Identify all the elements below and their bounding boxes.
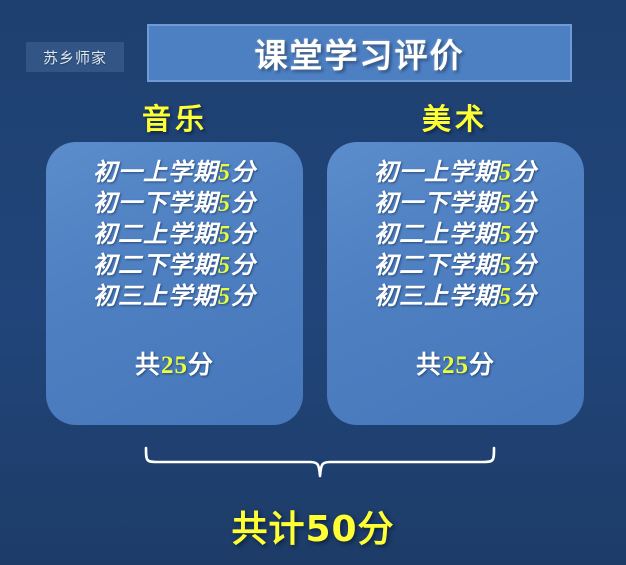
- score-row-label: 初三上学期: [374, 284, 499, 310]
- score-row: 初二上学期5分: [46, 220, 303, 251]
- score-row-label: 初二下学期: [93, 253, 218, 279]
- score-row-label: 初三上学期: [93, 284, 218, 310]
- subject-total-prefix: 共: [135, 352, 161, 379]
- score-row-value: 5: [499, 191, 512, 217]
- score-row-value: 5: [218, 222, 231, 248]
- score-row: 初一上学期5分: [46, 158, 303, 189]
- subject-total-suffix: 分: [188, 352, 214, 379]
- score-row: 初二下学期5分: [327, 251, 584, 282]
- watermark-label: 苏乡师家: [43, 47, 107, 68]
- score-row: 初二下学期5分: [46, 251, 303, 282]
- subject-total-art: 共25分: [327, 345, 584, 381]
- score-row-unit: 分: [512, 253, 537, 279]
- curly-brace-icon: [140, 446, 500, 504]
- subject-total-value: 25: [161, 352, 188, 379]
- watermark: 苏乡师家: [26, 42, 124, 72]
- slide-canvas: 苏乡师家 课堂学习评价 音乐 美术 初一上学期5分 初一下学期5分 初二上学期5…: [0, 0, 626, 565]
- score-row-unit: 分: [231, 191, 256, 217]
- score-row-value: 5: [499, 160, 512, 186]
- score-row-unit: 分: [512, 222, 537, 248]
- score-row-value: 5: [218, 191, 231, 217]
- score-row-label: 初一上学期: [374, 160, 499, 186]
- score-row-unit: 分: [231, 284, 256, 310]
- score-row-unit: 分: [231, 222, 256, 248]
- score-row-value: 5: [499, 253, 512, 279]
- grand-total: 共计50分: [0, 500, 626, 552]
- score-row-value: 5: [218, 160, 231, 186]
- subject-card-art: 初一上学期5分 初一下学期5分 初二上学期5分 初二下学期5分 初三上学期5分 …: [327, 142, 584, 425]
- subject-heading-music: 音乐: [45, 96, 305, 138]
- score-row-unit: 分: [231, 253, 256, 279]
- score-row-label: 初二上学期: [93, 222, 218, 248]
- page-title: 课堂学习评价: [255, 29, 465, 77]
- score-row: 初三上学期5分: [46, 282, 303, 313]
- subject-total-suffix: 分: [469, 352, 495, 379]
- subject-total-value: 25: [442, 352, 469, 379]
- score-row-label: 初二下学期: [374, 253, 499, 279]
- score-row-label: 初二上学期: [374, 222, 499, 248]
- score-row: 初一下学期5分: [46, 189, 303, 220]
- score-row: 初三上学期5分: [327, 282, 584, 313]
- score-row-unit: 分: [512, 284, 537, 310]
- score-row-label: 初一下学期: [93, 191, 218, 217]
- subject-total-prefix: 共: [416, 352, 442, 379]
- score-row-value: 5: [218, 253, 231, 279]
- score-row-label: 初一下学期: [374, 191, 499, 217]
- score-row: 初一下学期5分: [327, 189, 584, 220]
- score-row: 初二上学期5分: [327, 220, 584, 251]
- subject-card-music: 初一上学期5分 初一下学期5分 初二上学期5分 初二下学期5分 初三上学期5分 …: [46, 142, 303, 425]
- title-banner: 课堂学习评价: [147, 24, 572, 82]
- score-row-unit: 分: [512, 191, 537, 217]
- score-row-value: 5: [499, 222, 512, 248]
- score-row: 初一上学期5分: [327, 158, 584, 189]
- subject-heading-art: 美术: [325, 96, 585, 138]
- score-row-value: 5: [499, 284, 512, 310]
- subject-total-music: 共25分: [46, 345, 303, 381]
- score-row-unit: 分: [231, 160, 256, 186]
- score-row-value: 5: [218, 284, 231, 310]
- score-row-unit: 分: [512, 160, 537, 186]
- summary-brace: [140, 446, 500, 504]
- score-row-label: 初一上学期: [93, 160, 218, 186]
